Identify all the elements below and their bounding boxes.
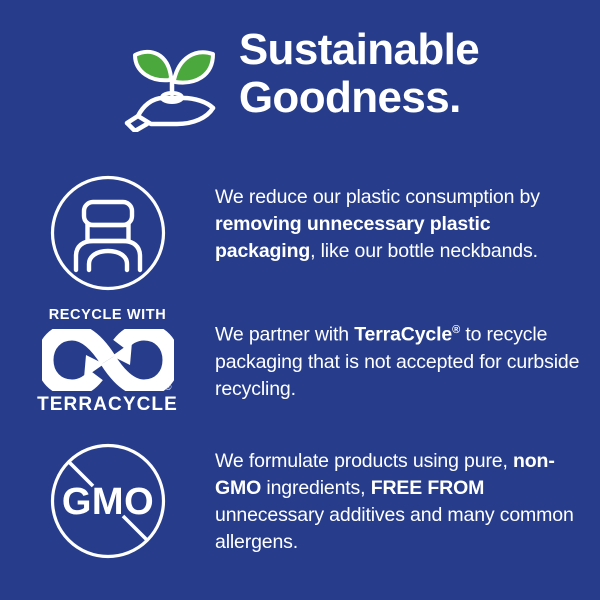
text-segment: , like our bottle neckbands. xyxy=(310,240,538,262)
feature-icon-cell xyxy=(0,172,215,292)
terracycle-logo: RECYCLE WITH ® TERRACYCLE xyxy=(35,307,181,416)
feature-row-terracycle: RECYCLE WITH ® TERRACYCLE We partner wit… xyxy=(0,305,600,423)
terracycle-loop-wrap: ® xyxy=(42,329,174,391)
text-segment: We reduce our plastic consumption by xyxy=(215,186,540,208)
registered-trademark-icon: ® xyxy=(165,383,172,392)
sprout-in-hand-icon xyxy=(121,32,225,132)
recycle-infinity-loop-icon xyxy=(42,329,174,391)
terracycle-top-label: RECYCLE WITH xyxy=(49,307,167,324)
feature-text-gmo: We formulate products using pure, non-GM… xyxy=(215,448,582,556)
feature-row-plastic: We reduce our plastic consumption by rem… xyxy=(0,172,600,292)
feature-text-plastic: We reduce our plastic consumption by rem… xyxy=(215,184,582,265)
page-title: Sustainable Goodness. xyxy=(239,26,479,122)
no-gmo-icon: GMO xyxy=(49,442,167,560)
feature-icon-cell: GMO xyxy=(0,440,215,560)
text-segment-bold: TerraCycle xyxy=(354,324,452,346)
terracycle-bottom-label: TERRACYCLE xyxy=(37,394,178,416)
text-segment: unnecessary additives and many common al… xyxy=(215,504,574,553)
feature-icon-cell: RECYCLE WITH ® TERRACYCLE xyxy=(0,305,215,416)
header: Sustainable Goodness. xyxy=(0,26,600,144)
text-segment: ingredients, xyxy=(261,477,371,499)
feature-text-cell: We partner with TerraCycle® to recycle p… xyxy=(215,305,600,403)
feature-text-cell: We formulate products using pure, non-GM… xyxy=(215,440,600,556)
bottle-neckband-icon xyxy=(49,174,167,292)
text-segment: We partner with xyxy=(215,324,354,346)
text-segment: We formulate products using pure, xyxy=(215,450,513,472)
title-line-1: Sustainable xyxy=(239,26,479,74)
text-segment-registered: ® xyxy=(452,324,460,336)
feature-text-cell: We reduce our plastic consumption by rem… xyxy=(215,172,600,265)
feature-row-gmo: GMO We formulate products using pure, no… xyxy=(0,440,600,580)
feature-text-terracycle: We partner with TerraCycle® to recycle p… xyxy=(215,317,582,403)
no-gmo-icon-label: GMO xyxy=(61,481,153,523)
text-segment-bold: FREE FROM xyxy=(371,477,484,499)
title-line-2: Goodness. xyxy=(239,74,479,122)
